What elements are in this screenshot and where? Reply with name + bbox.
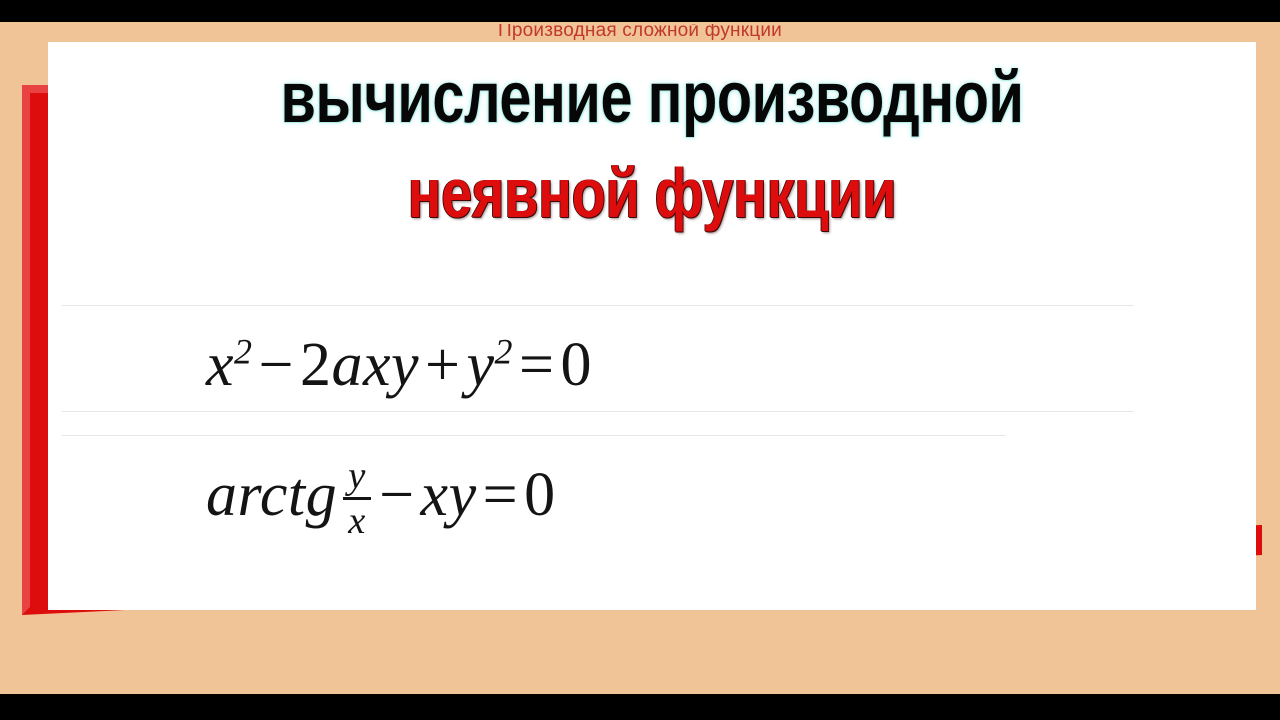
formula2-denominator: x xyxy=(344,500,370,542)
formula1-operator-plus: + xyxy=(419,331,466,399)
formula2-function-arctg: arctg xyxy=(206,461,337,529)
formula2-fraction: y x xyxy=(343,455,371,543)
formula2-operator-minus: − xyxy=(373,461,420,529)
formula1-term-y: y xyxy=(391,331,419,399)
divider-rule-top xyxy=(62,305,1134,306)
formula1-var-y: y xyxy=(467,331,495,399)
content-card: вычисление производной неявной функции x… xyxy=(48,42,1256,610)
formula1-var-x: x xyxy=(206,331,234,399)
formula1-equals: = xyxy=(513,331,560,399)
formula1-exponent-1: 2 xyxy=(234,331,252,371)
formula1-param-a: a xyxy=(331,331,363,399)
divider-rule-lower xyxy=(62,435,1006,436)
letterbox-top xyxy=(0,0,1280,22)
formula-quadratic: x2−2axy+y2=0 xyxy=(206,330,592,401)
slide-header-title: Производная сложной функции xyxy=(0,24,1280,42)
title-line-primary: вычисление производной xyxy=(169,48,1135,134)
slide-canvas: Производная сложной функции вычисление п… xyxy=(0,0,1280,720)
title-block: вычисление производной неявной функции xyxy=(48,48,1256,228)
formula2-numerator: y xyxy=(344,455,370,497)
formula2-equals: = xyxy=(477,461,524,529)
formula-arctangent: arctg y x −xy=0 xyxy=(206,457,556,545)
letterbox-bottom xyxy=(0,694,1280,720)
formula1-exponent-2: 2 xyxy=(495,331,513,371)
slide-header-strip: Производная сложной функции xyxy=(0,24,1280,44)
title-line-secondary: неявной функции xyxy=(169,134,1135,228)
formula2-term-xy: xy xyxy=(421,461,477,529)
formula1-term-x: x xyxy=(363,331,391,399)
formula1-operator-minus: − xyxy=(253,331,300,399)
formula2-rhs: 0 xyxy=(524,461,556,529)
formula1-coefficient: 2 xyxy=(300,331,332,399)
formula1-rhs: 0 xyxy=(561,331,593,399)
divider-rule-middle xyxy=(62,411,1134,412)
